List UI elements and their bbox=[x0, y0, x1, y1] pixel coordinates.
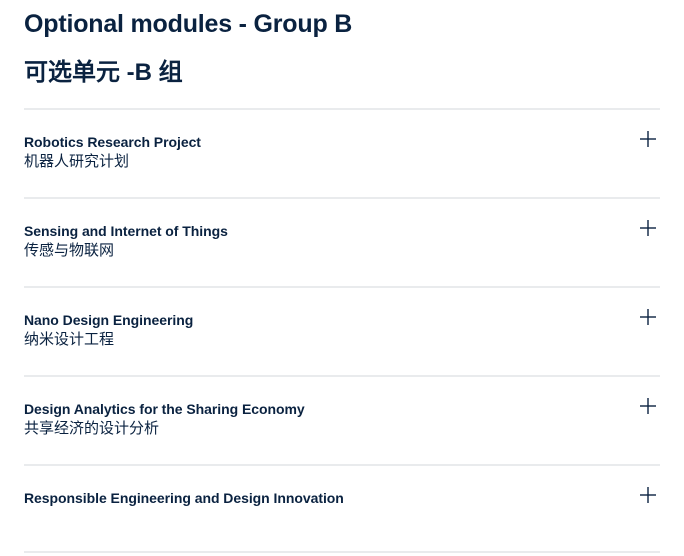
module-title-english: Design Analytics for the Sharing Economy bbox=[24, 400, 600, 418]
accordion-item-labels: Nano Design Engineering 纳米设计工程 bbox=[24, 311, 600, 350]
plus-icon[interactable] bbox=[639, 486, 657, 504]
module-title-chinese: 传感与物联网 bbox=[24, 240, 600, 261]
accordion-item-labels: Responsible Engineering and Design Innov… bbox=[24, 489, 600, 507]
accordion-item-labels: Sensing and Internet of Things 传感与物联网 bbox=[24, 222, 600, 261]
optional-modules-page: Optional modules - Group B 可选单元 -B 组 Rob… bbox=[0, 0, 684, 556]
plus-icon[interactable] bbox=[639, 219, 657, 237]
module-title-chinese: 机器人研究计划 bbox=[24, 151, 600, 172]
module-title-english: Sensing and Internet of Things bbox=[24, 222, 600, 240]
accordion-item: Sensing and Internet of Things 传感与物联网 bbox=[24, 197, 660, 286]
accordion-item-labels: Robotics Research Project 机器人研究计划 bbox=[24, 133, 600, 172]
module-title-english: Nano Design Engineering bbox=[24, 311, 600, 329]
plus-icon[interactable] bbox=[639, 308, 657, 326]
module-title-english: Robotics Research Project bbox=[24, 133, 600, 151]
plus-icon[interactable] bbox=[639, 397, 657, 415]
accordion-item: Responsible Engineering and Design Innov… bbox=[24, 464, 660, 553]
accordion-item: Design Analytics for the Sharing Economy… bbox=[24, 375, 660, 464]
accordion-toggle-sensing-and-internet-of-things[interactable]: Sensing and Internet of Things 传感与物联网 bbox=[24, 199, 660, 286]
accordion-item-labels: Design Analytics for the Sharing Economy… bbox=[24, 400, 600, 439]
accordion-toggle-robotics-research-project[interactable]: Robotics Research Project 机器人研究计划 bbox=[24, 110, 660, 197]
module-title-chinese: 共享经济的设计分析 bbox=[24, 418, 600, 439]
module-title-chinese: 纳米设计工程 bbox=[24, 329, 600, 350]
page-title-english: Optional modules - Group B bbox=[24, 0, 660, 40]
accordion-item: Robotics Research Project 机器人研究计划 bbox=[24, 108, 660, 197]
accordion-toggle-responsible-engineering-and-design-innovation[interactable]: Responsible Engineering and Design Innov… bbox=[24, 466, 660, 551]
page-heading: Optional modules - Group B 可选单元 -B 组 bbox=[0, 0, 684, 88]
page-title-chinese: 可选单元 -B 组 bbox=[24, 40, 660, 88]
optional-modules-accordion: Robotics Research Project 机器人研究计划 Sensin… bbox=[0, 108, 684, 553]
accordion-toggle-nano-design-engineering[interactable]: Nano Design Engineering 纳米设计工程 bbox=[24, 288, 660, 375]
plus-icon[interactable] bbox=[639, 130, 657, 148]
module-title-english: Responsible Engineering and Design Innov… bbox=[24, 489, 600, 507]
accordion-toggle-design-analytics-for-the-sharing-economy[interactable]: Design Analytics for the Sharing Economy… bbox=[24, 377, 660, 464]
accordion-item: Nano Design Engineering 纳米设计工程 bbox=[24, 286, 660, 375]
